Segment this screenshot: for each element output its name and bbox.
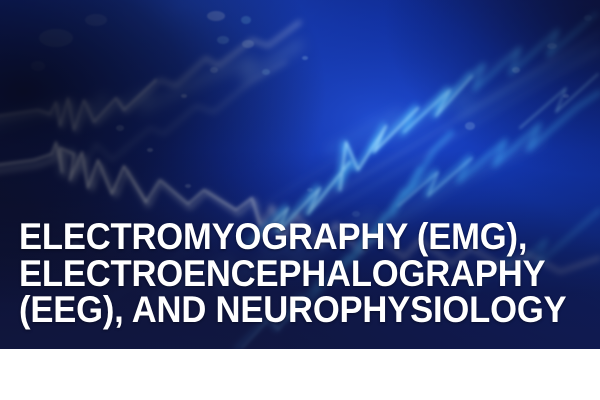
waveform-artwork-svg [0,0,600,349]
banner-artwork: ELECTROMYOGRAPHY (EMG), ELECTROENCEPHALO… [0,0,600,349]
course-banner: ELECTROMYOGRAPHY (EMG), ELECTROENCEPHALO… [0,0,600,400]
subtitle-bar: in Clinical Practice Course - Livestream [0,349,600,400]
